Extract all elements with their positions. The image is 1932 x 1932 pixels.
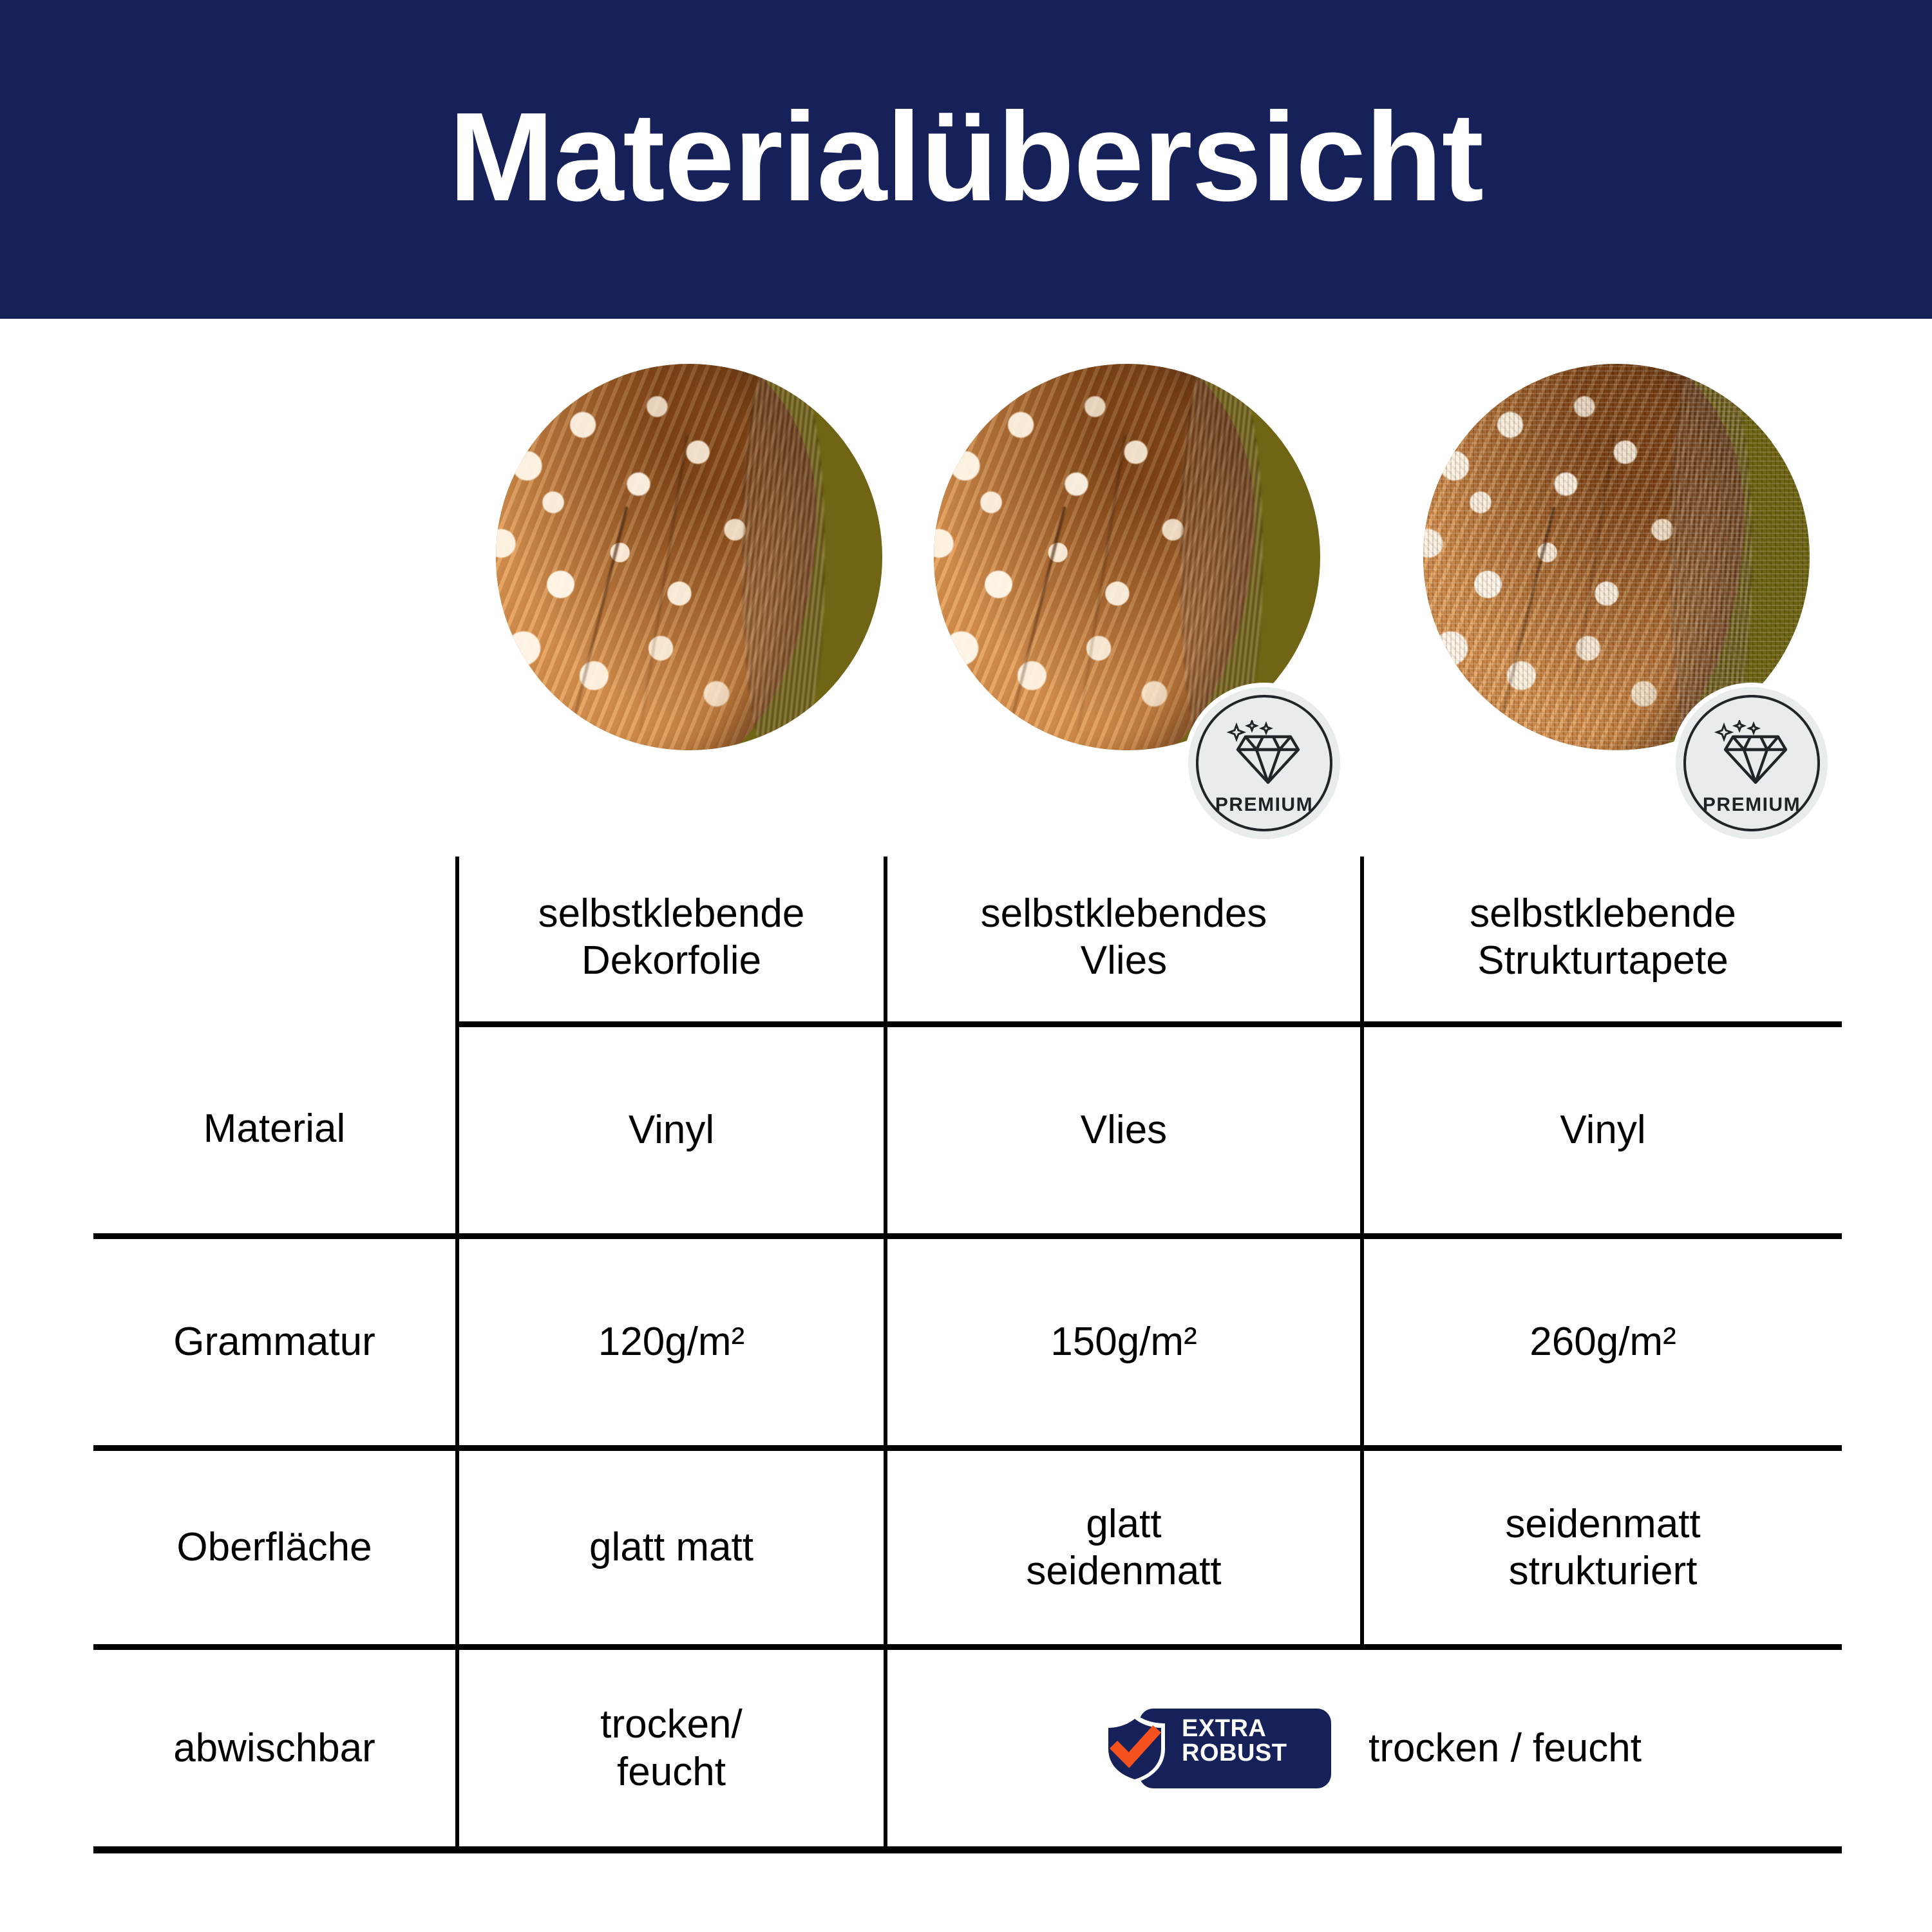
- bird-plumage-image: [1423, 364, 1744, 750]
- cell-oberflaeche-dekorfolie: glatt matt: [457, 1448, 885, 1647]
- table-row-abwischbar: abwischbar trocken/ feucht: [93, 1647, 1842, 1850]
- cell-oberflaeche-vlies: glatt seidenmatt: [885, 1448, 1362, 1647]
- bird-plumage-image: [496, 364, 817, 750]
- table-header-row: selbstklebende Dekorfolie selbstklebende…: [93, 857, 1842, 1025]
- swatch-image-dekorfolie: [496, 364, 882, 750]
- cell-grammatur-vlies: 150g/m²: [885, 1236, 1362, 1448]
- bird-plumage-image: [934, 364, 1255, 750]
- column-header-line1: selbstklebende: [1470, 890, 1736, 937]
- extra-robust-badge: EXTRA ROBUST: [1099, 1709, 1331, 1788]
- column-header-vlies: selbstklebendes Vlies: [885, 857, 1362, 1025]
- cell-grammatur-strukturtapete: 260g/m²: [1362, 1236, 1842, 1448]
- badge-ring: [1683, 695, 1820, 831]
- cell-grammatur-dekorfolie: 120g/m²: [457, 1236, 885, 1448]
- cell-line1: trocken/: [600, 1701, 743, 1748]
- row-label-grammatur: Grammatur: [93, 1236, 457, 1448]
- premium-badge-strukturtapete: PREMIUM: [1676, 687, 1828, 839]
- premium-badge-vlies: PREMIUM: [1188, 687, 1340, 839]
- cell-material-vlies: Vlies: [885, 1025, 1362, 1236]
- cell-line2: feucht: [617, 1748, 726, 1795]
- cell-line1: seidenmatt: [1505, 1501, 1700, 1548]
- cell-line2: strukturiert: [1509, 1548, 1698, 1595]
- column-header-dekorfolie: selbstklebende Dekorfolie: [457, 857, 885, 1025]
- cell-line1: glatt: [1086, 1501, 1161, 1548]
- swatch-dekorfolie[interactable]: [496, 364, 882, 750]
- extra-robust-line2: ROBUST: [1182, 1739, 1287, 1766]
- material-comparison-table: selbstklebende Dekorfolie selbstklebende…: [93, 857, 1842, 1853]
- extra-robust-line1: EXTRA: [1182, 1715, 1266, 1742]
- cell-abwischbar-vlies-strukturtapete: EXTRA ROBUST trocken / feucht: [885, 1647, 1842, 1850]
- cell-material-dekorfolie: Vinyl: [457, 1025, 885, 1236]
- column-header-line2: Vlies: [1081, 937, 1167, 984]
- column-header-line1: selbstklebendes: [981, 890, 1267, 937]
- cell-line1: glatt matt: [589, 1524, 753, 1571]
- page-title: Materialübersicht: [449, 94, 1483, 220]
- column-header-line2: Dekorfolie: [582, 937, 761, 984]
- badge-ring: [1196, 695, 1332, 831]
- column-header-line1: selbstklebende: [538, 890, 805, 937]
- table-row-grammatur: Grammatur 120g/m² 150g/m² 260g/m²: [93, 1236, 1842, 1448]
- shield-check-icon: [1099, 1711, 1170, 1796]
- cell-line2: seidenmatt: [1026, 1548, 1221, 1595]
- header-corner-cell: [93, 857, 457, 1025]
- column-header-line2: Strukturtapete: [1477, 937, 1728, 984]
- table-row-oberflaeche: Oberfläche glatt matt glatt seidenmatt s…: [93, 1448, 1842, 1647]
- table-row-material: Material Vinyl Vlies Vinyl: [93, 1025, 1842, 1236]
- row-label-oberflaeche: Oberfläche: [93, 1448, 457, 1647]
- cell-material-strukturtapete: Vinyl: [1362, 1025, 1842, 1236]
- column-header-strukturtapete: selbstklebende Strukturtapete: [1362, 857, 1842, 1025]
- extra-robust-text: EXTRA ROBUST: [1182, 1716, 1327, 1766]
- cell-oberflaeche-strukturtapete: seidenmatt strukturiert: [1362, 1448, 1842, 1647]
- cell-merged-text: trocken / feucht: [1368, 1725, 1642, 1772]
- row-label-material: Material: [93, 1025, 457, 1236]
- cell-abwischbar-dekorfolie: trocken/ feucht: [457, 1647, 885, 1850]
- row-label-abwischbar: abwischbar: [93, 1647, 457, 1850]
- page-header: Materialübersicht: [0, 0, 1932, 319]
- material-swatch-strip: PREMIUM PRE: [0, 319, 1932, 795]
